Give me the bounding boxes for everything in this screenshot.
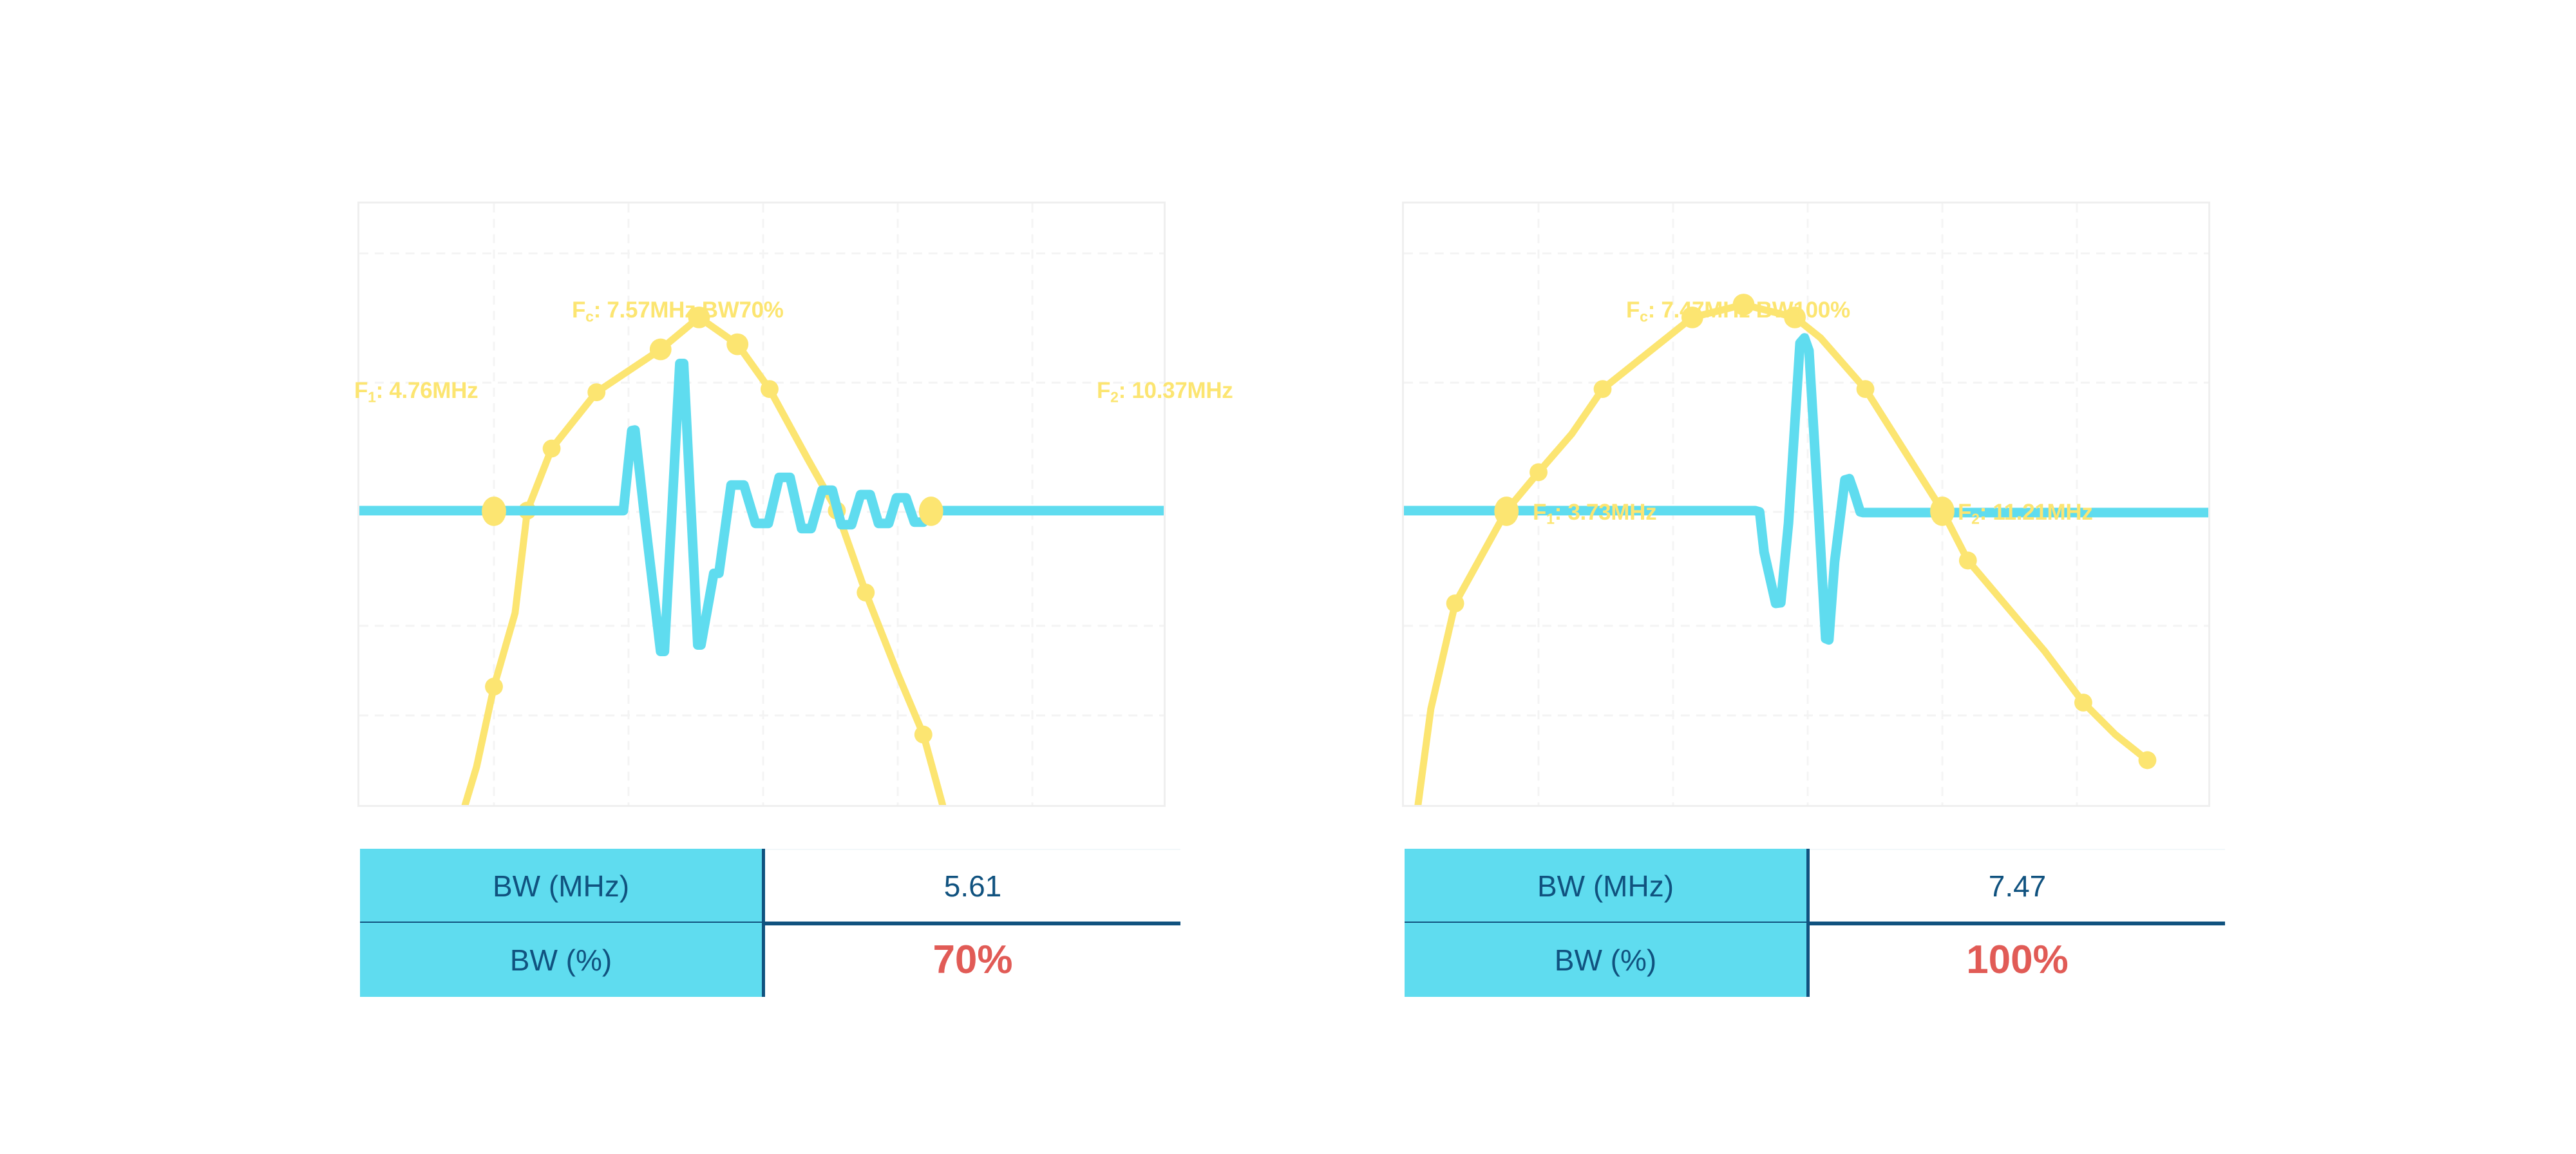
- plot-frame-left: Fc: 7.57MHz BW70% F1: 4.76MHz F2: 10.37M…: [357, 202, 1166, 807]
- annot-f1-text: : 4.76MHz: [376, 378, 478, 403]
- annot-fc-prefix: F: [1626, 298, 1640, 323]
- table-row-value: 7.47: [1810, 849, 2225, 923]
- annot-fc-sub: c: [1640, 308, 1648, 325]
- annot-f1-prefix: F: [354, 378, 368, 403]
- bandwidth-panel-left: Fc: 7.57MHz BW70% F1: 4.76MHz F2: 10.37M…: [341, 0, 1179, 1154]
- table-row-label: BW (%): [1405, 923, 1810, 997]
- table-row-label: BW (%): [360, 923, 765, 997]
- annotation-center-frequency-left: Fc: 7.57MHz BW70%: [572, 298, 784, 325]
- annot-f2-sub: 2: [1110, 388, 1119, 405]
- annot-f2-text: : 11.21MHz: [1980, 500, 2093, 525]
- annot-f2-text: : 10.37MHz: [1119, 378, 1233, 403]
- annot-fc-sub: c: [585, 308, 594, 325]
- grid-lines: [359, 203, 1164, 805]
- spectrum-plot-left: [359, 203, 1164, 805]
- annotation-lower-frequency-left: F1: 4.76MHz: [354, 378, 478, 406]
- annot-fc-text: : 7.57MHz BW70%: [594, 298, 784, 323]
- table-row-label: BW (MHz): [1405, 849, 1810, 923]
- annotation-upper-frequency-left: F2: 10.37MHz: [1097, 378, 1233, 406]
- pulse-waveform: [359, 363, 1164, 651]
- bandwidth-table-right: BW (MHz) 7.47 BW (%) 100%: [1405, 849, 2225, 997]
- annot-f2-sub: 2: [1971, 510, 1980, 527]
- annotation-center-frequency-right: Fc: 7.47MHz BW100%: [1626, 298, 1850, 325]
- bandwidth-table-left: BW (MHz) 5.61 BW (%) 70%: [360, 849, 1180, 997]
- annot-f1-text: : 3.73MHz: [1555, 500, 1657, 525]
- table-row-value: 5.61: [765, 849, 1180, 923]
- spectrum-markers: [485, 307, 933, 744]
- table-row-value: 100%: [1810, 923, 2225, 997]
- table-row: BW (MHz) 7.47: [1405, 849, 2225, 923]
- annot-fc-text: : 7.47MHz BW100%: [1648, 298, 1850, 323]
- table-row-label: BW (MHz): [360, 849, 765, 923]
- annotation-upper-frequency-right: F2: 11.21MHz: [1958, 500, 2093, 527]
- spectrum-curve: [465, 317, 942, 805]
- bandwidth-panel-right: Fc: 7.47MHz BW100% F1: 3.73MHz F2: 11.21…: [1386, 0, 2223, 1154]
- annot-f1-sub: 1: [1546, 510, 1555, 527]
- annot-f2-prefix: F: [1958, 500, 1971, 525]
- table-row: BW (%) 100%: [1405, 923, 2225, 997]
- annotation-lower-frequency-right: F1: 3.73MHz: [1533, 500, 1656, 527]
- table-row-value: 70%: [765, 923, 1180, 997]
- table-row: BW (MHz) 5.61: [360, 849, 1180, 923]
- annot-f2-prefix: F: [1097, 378, 1110, 403]
- plot-frame-right: Fc: 7.47MHz BW100% F1: 3.73MHz F2: 11.21…: [1402, 202, 2210, 807]
- annot-f1-prefix: F: [1533, 500, 1546, 525]
- annot-f1-sub: 1: [368, 388, 376, 405]
- table-row: BW (%) 70%: [360, 923, 1180, 997]
- annot-fc-prefix: F: [572, 298, 585, 323]
